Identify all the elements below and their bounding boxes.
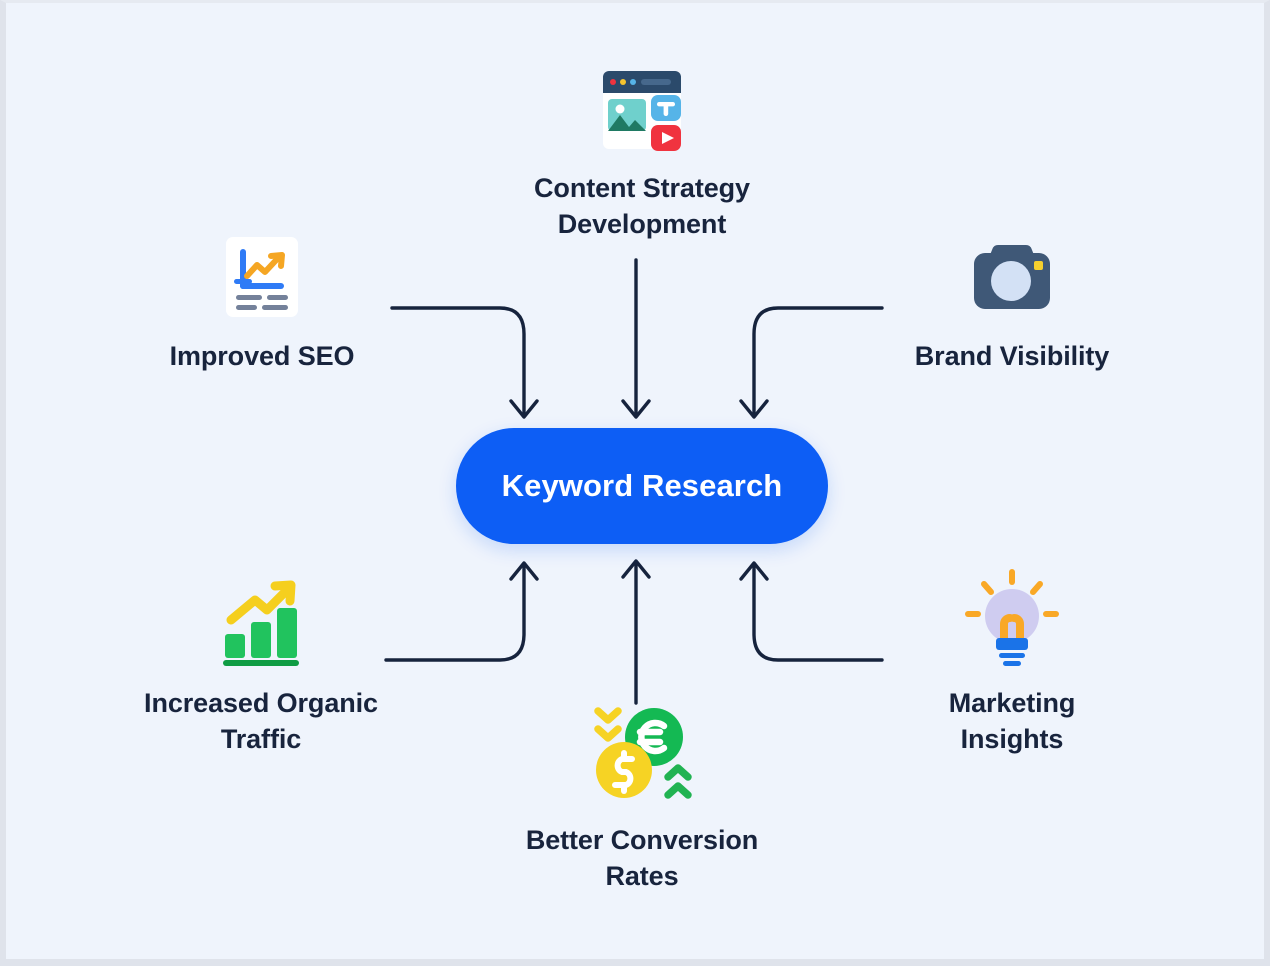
center-node-keyword-research[interactable]: Keyword Research [456,428,828,544]
coins-conversion-icon [582,697,702,809]
center-node-label: Keyword Research [502,468,783,504]
arrow-content-strategy-head [623,401,649,417]
arrow-organic-traffic-head [511,563,537,579]
diagram-canvas: Keyword Research Content Strategy De [0,0,1270,966]
node-label-content-strategy: Content Strategy Development [534,171,750,243]
node-organic-traffic[interactable]: Increased Organic Traffic [116,568,406,758]
node-brand-visibility[interactable]: Brand Visibility [872,229,1152,375]
growth-bar-chart-icon [209,568,313,672]
node-label-improved-seo: Improved SEO [170,339,355,375]
node-label-brand-visibility: Brand Visibility [915,339,1109,375]
node-label-organic-traffic: Increased Organic Traffic [144,686,378,758]
node-label-conversion-rates: Better Conversion Rates [526,823,758,895]
arrow-brand-visibility-head [741,401,767,417]
seo-chart-card-icon [214,229,310,325]
arrow-marketing-insights-head [741,563,767,579]
node-content-strategy[interactable]: Content Strategy Development [442,51,842,243]
arrow-marketing-insights [754,565,882,660]
content-browser-media-icon [589,51,695,157]
camera-icon [964,229,1060,325]
node-marketing-insights[interactable]: Marketing Insights [892,568,1132,758]
node-conversion-rates[interactable]: Better Conversion Rates [462,697,822,895]
node-improved-seo[interactable]: Improved SEO [122,229,402,375]
arrow-brand-visibility [754,308,882,415]
node-label-marketing-insights: Marketing Insights [949,686,1076,758]
lightbulb-idea-icon [960,568,1064,672]
arrow-conversion-rates-head [623,561,649,577]
arrow-improved-seo-head [511,401,537,417]
arrow-improved-seo [392,308,524,415]
arrow-organic-traffic [386,565,524,660]
